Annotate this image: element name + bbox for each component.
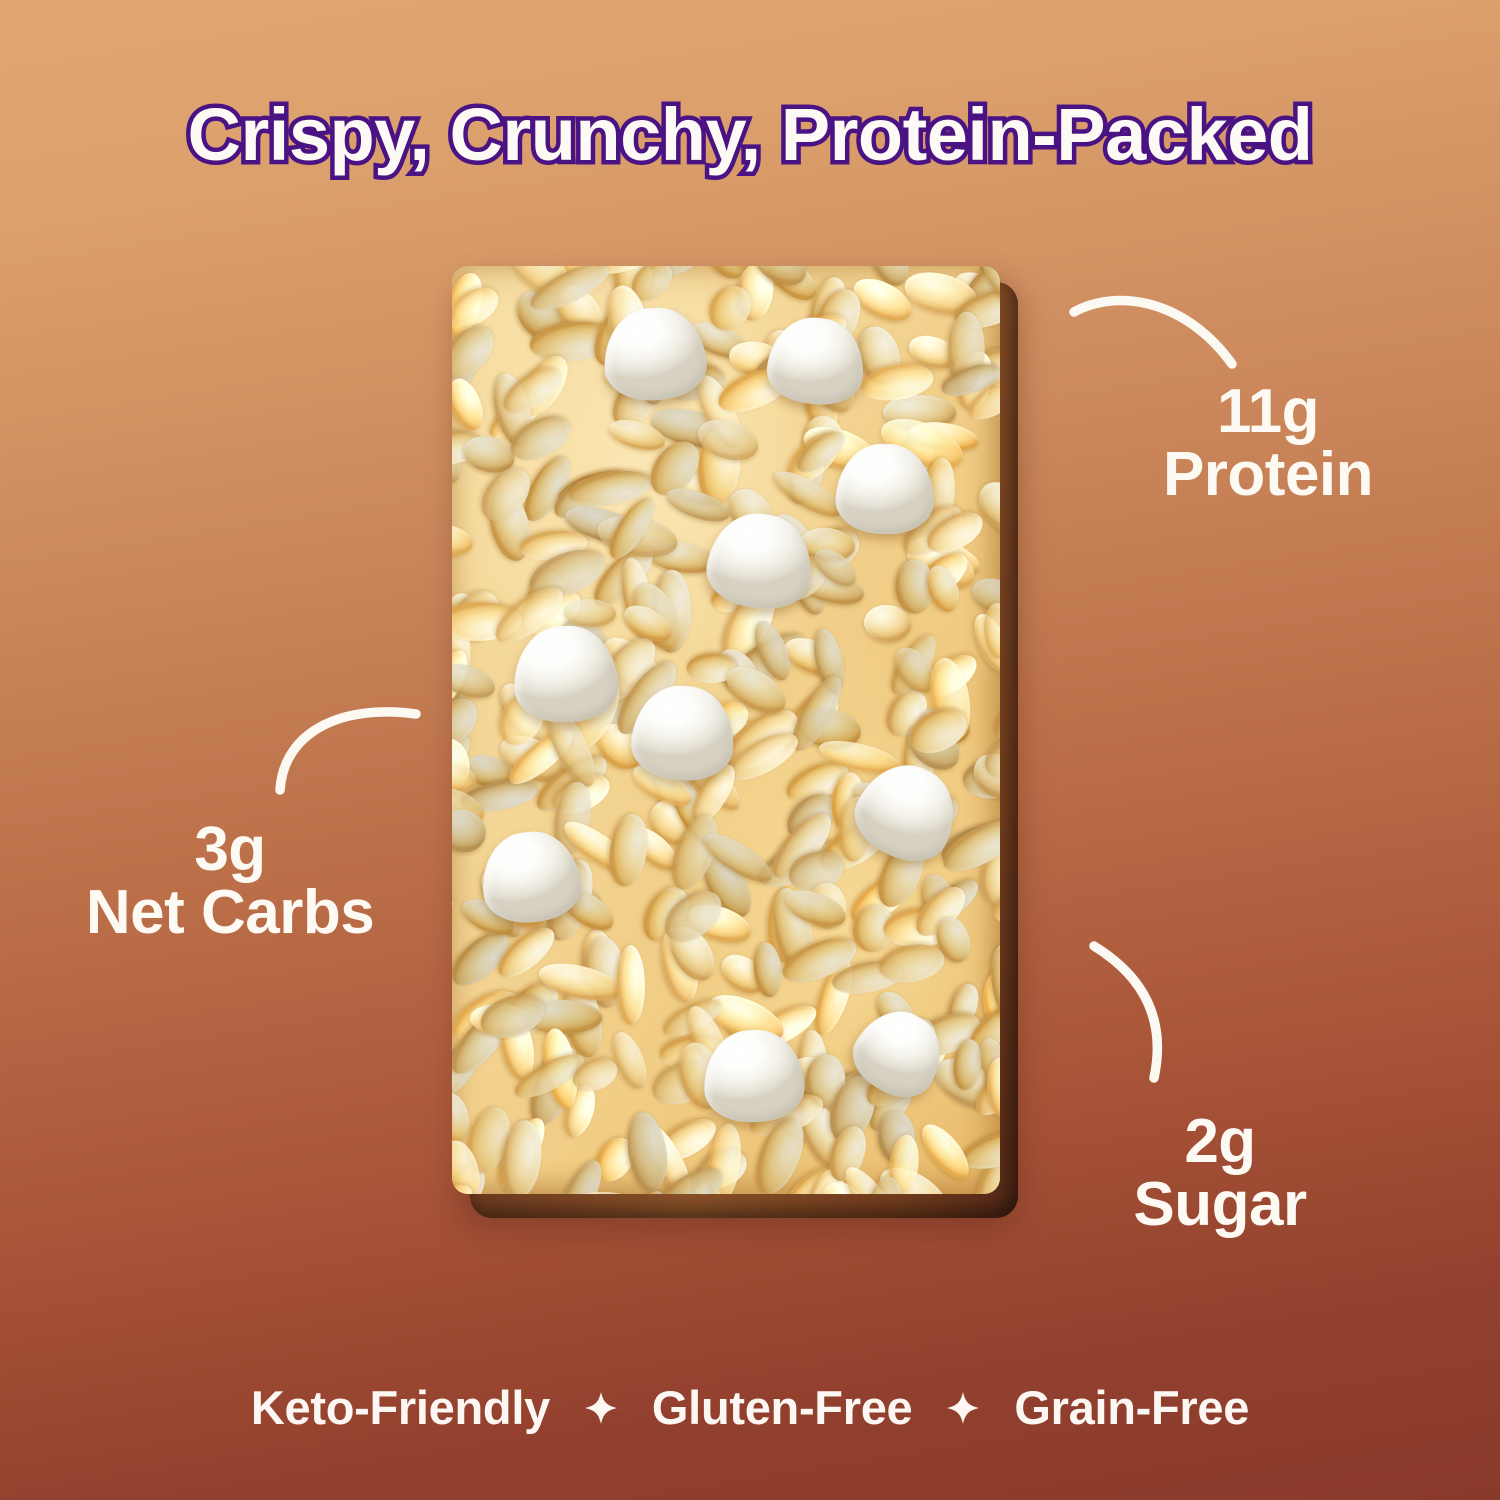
callout-sugar: 2g Sugar [1040, 1110, 1400, 1236]
rice-puff [452, 889, 455, 926]
claim-gluten-free: Gluten-Free [652, 1380, 912, 1435]
callout-net-carbs-value: 3g [30, 818, 430, 881]
arc-net-carbs [260, 690, 430, 800]
rice-puff [452, 373, 489, 434]
rice-puff [452, 266, 512, 270]
callout-protein-label: Protein [1088, 443, 1448, 506]
product-callout-image: Crispy, Crunchy, Protein-Packed 11g Prot… [0, 0, 1500, 1500]
arc-sugar [1080, 930, 1220, 1090]
rice-puff [988, 682, 1000, 750]
rice-puff [605, 812, 651, 890]
page-title: Crispy, Crunchy, Protein-Packed [0, 96, 1500, 174]
callout-sugar-label: Sugar [1040, 1173, 1400, 1236]
claims-footer: Keto-Friendly Gluten-Free Grain-Free [0, 1380, 1500, 1435]
callout-net-carbs-label: Net Carbs [30, 881, 430, 944]
callout-sugar-value: 2g [1040, 1110, 1400, 1173]
sparkle-star-icon-2 [946, 1391, 980, 1425]
callout-protein: 11g Protein [1088, 380, 1448, 506]
rice-puff [616, 945, 645, 1025]
callout-net-carbs: 3g Net Carbs [30, 818, 430, 944]
arc-protein [1060, 286, 1270, 386]
claim-grain-free: Grain-Free [1014, 1380, 1249, 1435]
callout-protein-value: 11g [1088, 380, 1448, 443]
product-image [452, 266, 1018, 1218]
claim-keto-friendly: Keto-Friendly [251, 1380, 550, 1435]
sparkle-star-icon [584, 1391, 618, 1425]
rice-puff [452, 521, 475, 559]
rice-puff [606, 1028, 653, 1093]
